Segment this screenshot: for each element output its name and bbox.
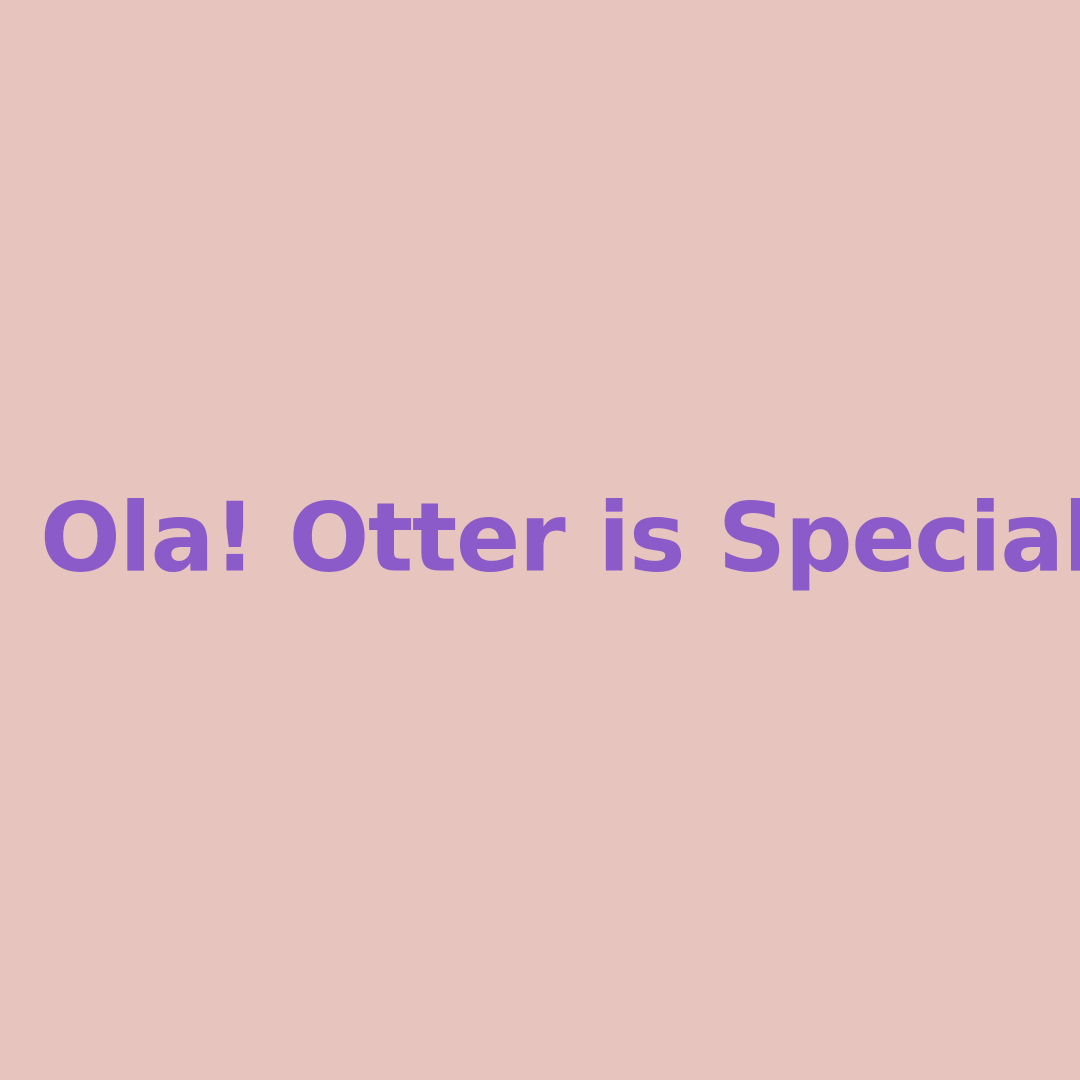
poster-canvas: Ola! Otter is Special xyxy=(0,0,1080,1080)
page-title: Ola! Otter is Special xyxy=(40,489,1080,590)
headline-block: Ola! Otter is Special xyxy=(0,489,1080,590)
